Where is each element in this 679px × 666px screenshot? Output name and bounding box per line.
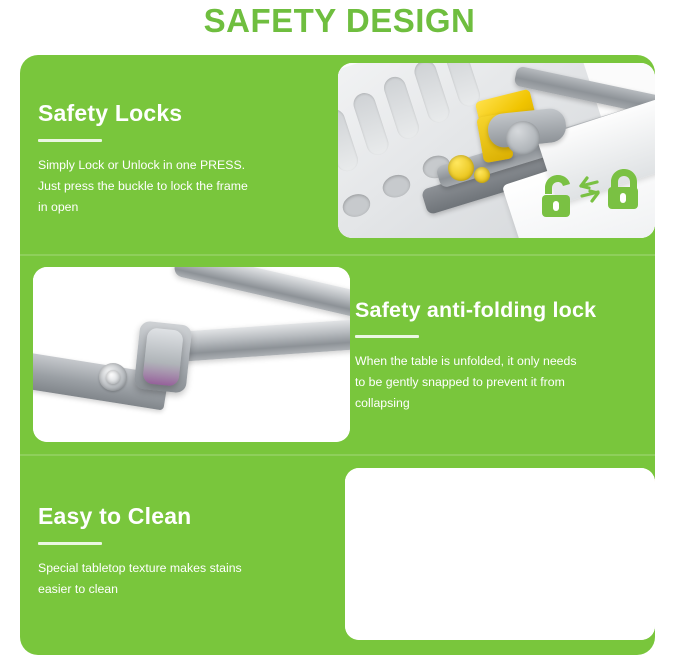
photo-content xyxy=(345,468,655,640)
feature-body-line: to be gently snapped to prevent it from xyxy=(355,372,625,393)
photo-content xyxy=(338,63,655,238)
feature-text-block: Safety anti-folding lock When the table … xyxy=(355,255,655,455)
toggle-arrows-icon xyxy=(581,178,598,201)
feature-body-line: easier to clean xyxy=(38,579,308,600)
feature-heading: Safety anti-folding lock xyxy=(355,298,655,323)
heading-underline xyxy=(38,139,102,142)
feature-body: Special tabletop texture makes stains ea… xyxy=(38,558,308,600)
feature-body-line: collapsing xyxy=(355,393,625,414)
feature-panel: Safety Locks Simply Lock or Unlock in on… xyxy=(20,55,655,655)
feature-body-line: in open xyxy=(38,197,308,218)
photo-content xyxy=(33,267,350,442)
feature-section-safety-locks: Safety Locks Simply Lock or Unlock in on… xyxy=(20,55,655,255)
wiping-tabletop-photo xyxy=(345,468,655,640)
page-title: SAFETY DESIGN xyxy=(0,0,679,42)
feature-body: Simply Lock or Unlock in one PRESS. Just… xyxy=(38,155,308,218)
heading-underline xyxy=(38,542,102,545)
feature-section-easy-to-clean: Easy to Clean Special tabletop texture m… xyxy=(20,455,655,655)
heading-underline xyxy=(355,335,419,338)
feature-body-line: Special tabletop texture makes stains xyxy=(38,558,308,579)
feature-body-line: Just press the buckle to lock the frame xyxy=(38,176,308,197)
feature-text-block: Safety Locks Simply Lock or Unlock in on… xyxy=(38,55,338,255)
feature-body-line: When the table is unfolded, it only need… xyxy=(355,351,625,372)
collar-clamp-inner xyxy=(142,327,184,386)
infographic-page: SAFETY DESIGN Safety Locks Simply Lock o… xyxy=(0,0,679,666)
photo-background xyxy=(345,468,655,640)
feature-section-anti-folding-lock: Safety anti-folding lock When the table … xyxy=(20,255,655,455)
lock-state-icons xyxy=(537,164,645,230)
locked-padlock-icon xyxy=(608,169,638,209)
feature-heading: Safety Locks xyxy=(38,100,338,127)
feature-heading: Easy to Clean xyxy=(38,503,338,530)
lock-buckle-photo xyxy=(338,63,655,238)
feature-body-line: Simply Lock or Unlock in one PRESS. xyxy=(38,155,308,176)
rivet-center xyxy=(106,370,120,384)
leg-brace-hinge-photo xyxy=(33,267,350,442)
feature-body: When the table is unfolded, it only need… xyxy=(355,351,625,414)
feature-text-block: Easy to Clean Special tabletop texture m… xyxy=(38,455,338,655)
unlocked-padlock-icon xyxy=(542,175,570,217)
